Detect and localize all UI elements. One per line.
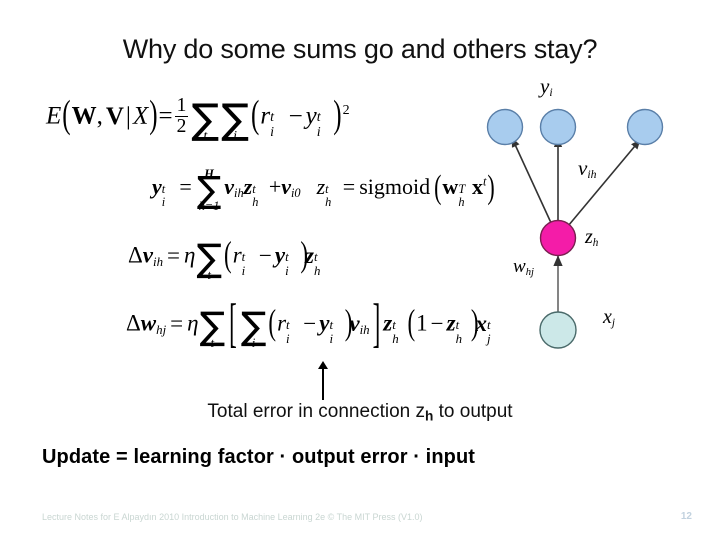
caption-suffix: to output (433, 401, 512, 422)
eq4-sigmoid-deriv-open: ( (408, 305, 416, 341)
eq4-v-sub: ih (360, 323, 370, 337)
eq3-r: r (233, 243, 242, 268)
summary-line: Update = learning factor · output error … (42, 446, 475, 469)
eq1-group-close: ) (333, 96, 341, 135)
eq4-equals: = (170, 311, 183, 336)
eq2-v0-sub: i0 (291, 186, 301, 200)
eq2-v0: v (281, 174, 291, 199)
footer-attribution: Lecture Notes for E Alpaydın 2010 Introd… (42, 512, 423, 522)
eq4-delta: Δ (126, 311, 141, 336)
eq4-r: r (277, 311, 286, 336)
eq3-minus: − (259, 243, 272, 268)
label-w-hj: whj (513, 256, 534, 278)
label-w-hj-base: w (513, 256, 526, 277)
eq1-comma: , (97, 103, 103, 130)
eq2-z2: z (317, 174, 326, 199)
eq1-numerator: 1 (175, 96, 189, 116)
input-node-xj (540, 312, 576, 348)
eq1-group-open: ( (251, 96, 259, 135)
eq1-sum-i: ∑i (221, 99, 249, 140)
eq4-sum-t: ∑t (200, 308, 226, 346)
label-x-j-sub: j (612, 317, 615, 329)
eq2-v-sub: ih (234, 186, 244, 200)
eq3-equals: = (167, 243, 180, 268)
slide-canvas: Why do some sums go and others stay? E(W… (0, 0, 720, 539)
eq4-w-sub: hj (156, 323, 166, 337)
label-v-ih: vih (578, 156, 596, 181)
network-svg (455, 70, 720, 360)
eq1-power: 2 (343, 103, 350, 118)
eq1-V: V (106, 103, 124, 130)
label-z-h: zh (585, 226, 598, 249)
eq1-r: r (260, 103, 270, 130)
label-x-j-base: x (603, 306, 612, 328)
label-z-h-base: z (585, 226, 593, 248)
eq4-sum-t-index: t (200, 337, 226, 350)
eq4-minus: − (303, 311, 316, 336)
output-node-1 (488, 110, 523, 145)
eq3-sum-t-index: t (196, 269, 222, 282)
eq2-arg-open: ( (434, 170, 441, 204)
label-y-i-sub: i (549, 86, 552, 99)
eq2-v: v (224, 174, 234, 199)
eq3-v-sub: ih (153, 255, 163, 269)
eq2-sum-lower: h=1 (197, 200, 221, 212)
eq1-y: y (306, 103, 317, 130)
eq2-sum-h: ∑Hh=1 (197, 172, 221, 208)
eq1-sum-t: ∑t (191, 99, 219, 140)
eq1-sum-i-index: i (221, 130, 249, 144)
page-title: Why do some sums go and others stay? (0, 34, 720, 65)
eq4-group-close: ) (345, 305, 353, 341)
eq4-w: w (141, 311, 156, 336)
eq1-equals: = (159, 103, 173, 130)
eq3-sum-t: ∑t (196, 240, 222, 278)
eq4-sum-i-index: i (241, 337, 267, 350)
eq1-W: W (72, 103, 97, 130)
hidden-node-zh (541, 221, 576, 256)
eq4-sum-i: ∑i (241, 308, 267, 346)
eq2-z: z (244, 174, 253, 199)
label-z-h-sub: h (593, 237, 599, 249)
eq4-one: 1 (416, 311, 428, 336)
eq1-open-paren: ( (62, 96, 70, 135)
page-number: 12 (681, 511, 692, 522)
eq4-y: y (319, 311, 329, 336)
eq3-delta: Δ (128, 243, 143, 268)
eq3-group-close: ) (300, 237, 308, 273)
eq1-one-half: 12 (175, 96, 189, 137)
caption-prefix: Total error in connection z (207, 401, 425, 422)
eq1-denominator: 2 (175, 116, 189, 137)
eq4-group-open: ( (268, 305, 276, 341)
eq3-v: v (143, 243, 153, 268)
eq2-y: y (152, 174, 162, 199)
label-v-ih-sub: ih (587, 168, 596, 181)
label-y-i: yi (540, 74, 553, 99)
eq2-sigmoid: sigmoid (359, 174, 430, 199)
equation-delta-v: Δvih=η∑t(rti−yti)zth (128, 240, 328, 278)
eq1-E: E (46, 103, 61, 130)
eq4-bracket-close: ] (373, 297, 381, 351)
eq3-eta: η (184, 243, 195, 268)
label-w-hj-sub: hj (526, 267, 534, 278)
equation-delta-w: Δwhj=η∑t[∑i(rti−yti)vih]zth(1−zth)xtj (126, 308, 501, 346)
output-node-2 (541, 110, 576, 145)
edge-zh-to-output-3 (558, 140, 640, 238)
eq1-sum-t-index: t (191, 130, 219, 144)
label-x-j: xj (603, 306, 615, 329)
equation-error-function: E(W,V|Χ)=12∑t∑i(rti−yti)2 (46, 96, 350, 140)
neural-network-diagram (455, 70, 720, 360)
eq2-equals2: = (343, 174, 355, 199)
eq2-equals: = (179, 174, 191, 199)
eq4-minus2: − (431, 311, 444, 336)
eq4-eta: η (187, 311, 198, 336)
label-y-i-base: y (540, 74, 549, 98)
output-node-3 (628, 110, 663, 145)
caption-total-error: Total error in connection zh to output (0, 401, 720, 423)
label-v-ih-base: v (578, 156, 587, 180)
eq4-bracket-open: [ (229, 297, 237, 351)
eq2-plus: + (269, 174, 281, 199)
eq1-bar: | (126, 103, 131, 130)
eq3-y: y (275, 243, 285, 268)
eq1-X: Χ (133, 103, 148, 130)
eq3-group-open: ( (224, 237, 232, 273)
eq1-minus: − (289, 103, 303, 130)
equation-forward-pass: yti=∑Hh=1vihzth+vi0zth=sigmoid(wThxt) (152, 172, 496, 208)
eq1-close-paren: ) (149, 96, 157, 135)
caption-pointer-arrow-icon (322, 368, 324, 400)
eq4-z: z (383, 311, 392, 336)
eq2-sum-upper: H (197, 168, 221, 180)
